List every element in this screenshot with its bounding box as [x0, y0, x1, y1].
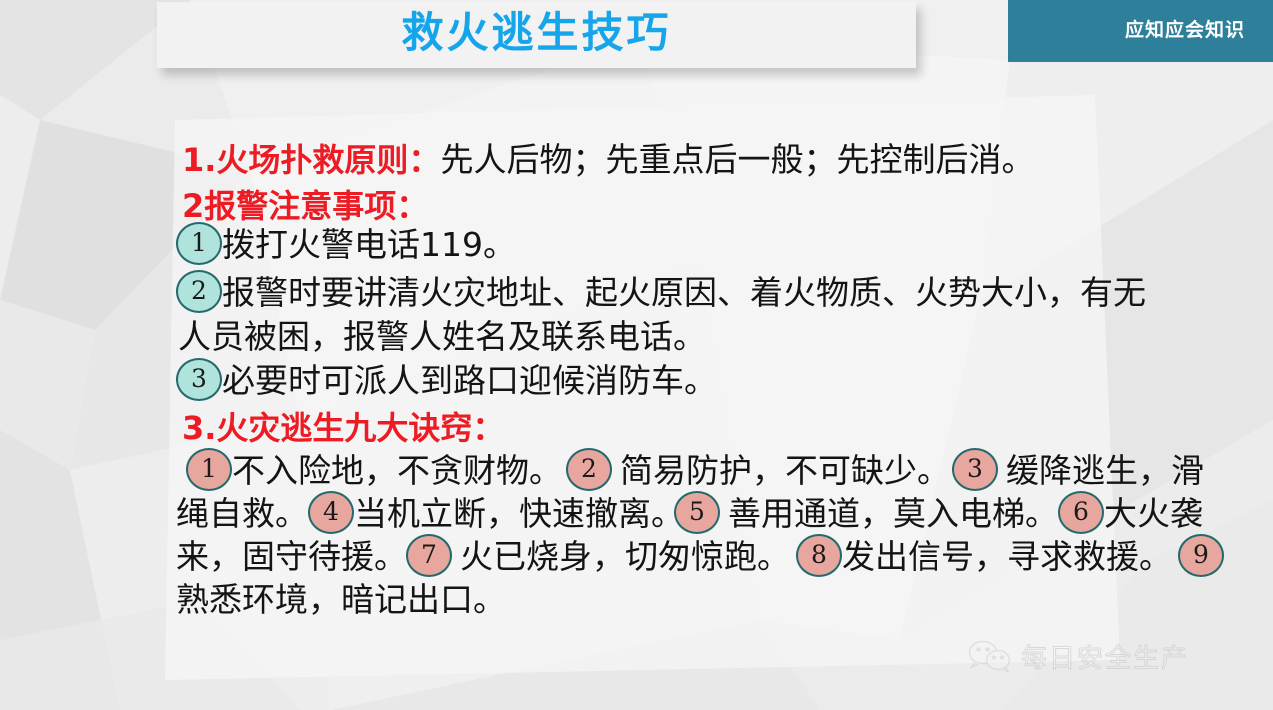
- marker-circle-1: 1: [176, 222, 222, 265]
- section2-item-2-text-cont: 人员被困，报警人姓名及联系电话。: [178, 320, 706, 353]
- marker-circle-tip-7: 7: [406, 534, 452, 577]
- section2-item-2-text: 报警时要讲清火灾地址、起火原因、着火物质、火势大小，有无: [222, 276, 1146, 309]
- title-card: 救火逃生技巧: [157, 2, 916, 68]
- marker-circle-3: 3: [176, 358, 222, 401]
- slide-content: 1.火场扑救原则：先人后物；先重点后一般；先控制后消。 2报警注意事项： 1 拨…: [0, 0, 1273, 710]
- watermark-label: 每日安全生产: [1021, 638, 1189, 675]
- section2-item-3-text: 必要时可派人到路口迎候消防车。: [222, 364, 717, 397]
- section3-tip-4-text: 当机立断，快速撤离。: [354, 497, 684, 530]
- section3-tip-2-text: 简易防护，不可缺少。: [620, 454, 950, 487]
- marker-circle-tip-5: 5: [674, 491, 720, 534]
- marker-circle-tip-9: 9: [1178, 534, 1224, 577]
- corner-badge: 应知应会知识: [1008, 0, 1273, 62]
- section1-text: 先人后物；先重点后一般；先控制后消。: [440, 140, 1034, 179]
- section3-heading: 3.火灾逃生九大诀窍：: [182, 412, 504, 445]
- watermark: 每日安全生产: [968, 638, 1189, 675]
- marker-circle-tip-3: 3: [952, 448, 998, 491]
- page-title: 救火逃生技巧: [157, 2, 916, 68]
- section3-tip-5-text: 善用通道，莫入电梯。: [728, 497, 1058, 530]
- section3-tip-3-text-cont: 绳自救。: [176, 497, 308, 530]
- section3-tip-9-text: 熟悉环境，暗记出口。: [176, 583, 506, 616]
- marker-circle-tip-8: 8: [796, 534, 842, 577]
- section3-tip-6-text: 大火袭: [1104, 497, 1203, 530]
- section3-tip-7-text: 火已烧身，切匆惊跑。: [460, 540, 790, 573]
- section3-tip-3-text: 缓降逃生，滑: [1006, 454, 1204, 487]
- section2-item-1-text: 拨打火警电话119。: [222, 228, 516, 261]
- marker-circle-tip-6: 6: [1058, 491, 1104, 534]
- marker-circle-2: 2: [176, 270, 222, 313]
- section3-tip-1-text: 不入险地，不贪财物。: [232, 454, 562, 487]
- section1-line: 1.火场扑救原则：先人后物；先重点后一般；先控制后消。: [182, 143, 1034, 177]
- corner-badge-label: 应知应会知识: [1125, 0, 1245, 62]
- section1-heading: 1.火场扑救原则：: [182, 141, 440, 179]
- marker-circle-tip-4: 4: [308, 491, 354, 534]
- marker-circle-tip-2: 2: [566, 448, 612, 491]
- wechat-icon: [968, 640, 1012, 674]
- slide-canvas: 救火逃生技巧 应知应会知识 1.火场扑救原则：先人后物；先重点后一般；先控制后消…: [0, 0, 1273, 710]
- section2-heading: 2报警注意事项：: [182, 190, 428, 223]
- section3-tip-6-text-cont: 来，固守待援。: [176, 540, 407, 573]
- section3-tip-8-text: 发出信号，寻求救援。: [842, 540, 1172, 573]
- marker-circle-tip-1: 1: [186, 448, 232, 491]
